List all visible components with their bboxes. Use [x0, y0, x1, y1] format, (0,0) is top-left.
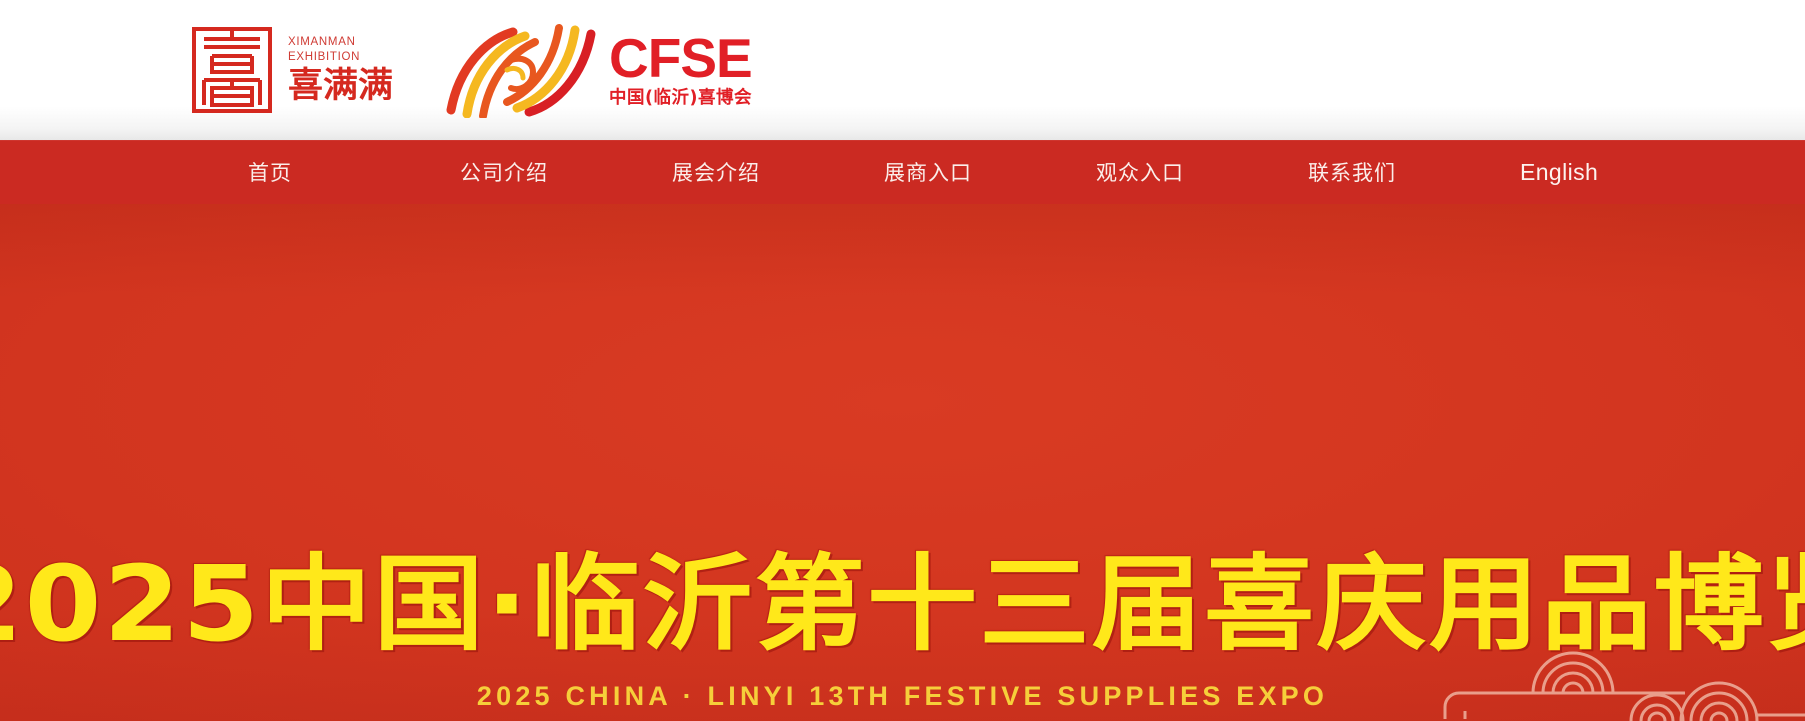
banner-title-english: 2025 CHINA · LINYI 13TH FESTIVE SUPPLIES…	[0, 681, 1805, 712]
hero-banner: 2025中国·临沂第十三届喜庆用品博览会 2025 CHINA · LINYI …	[0, 204, 1805, 721]
cfse-ribbon-icon	[441, 22, 601, 118]
nav-item-visitor-entry[interactable]: 观众入口	[1096, 157, 1308, 187]
xi-seal-icon	[190, 25, 274, 115]
cfse-logo[interactable]: CFSE 中国(临沂)喜博会	[441, 22, 752, 118]
logo-row: XIMANMAN EXHIBITION 喜满满	[190, 14, 752, 126]
ximanman-wordmark: XIMANMAN EXHIBITION 喜满满	[288, 36, 393, 104]
banner-title-chinese: 2025中国·临沂第十三届喜庆用品博览会	[0, 552, 1805, 656]
site-header: XIMANMAN EXHIBITION 喜满满	[0, 0, 1805, 140]
page-root: XIMANMAN EXHIBITION 喜满满	[0, 0, 1805, 721]
nav-item-exhibitor-entry[interactable]: 展商入口	[884, 157, 1096, 187]
cfse-acronym: CFSE	[609, 33, 752, 85]
nav-items-container: 首页 公司介绍 展会介绍 展商入口 观众入口 联系我们 English	[248, 140, 1732, 204]
nav-item-expo-intro[interactable]: 展会介绍	[672, 157, 884, 187]
ximanman-logo[interactable]: XIMANMAN EXHIBITION 喜满满	[190, 25, 393, 115]
cfse-chinese: 中国(临沂)喜博会	[609, 90, 752, 108]
nav-item-home[interactable]: 首页	[248, 157, 460, 187]
main-navigation: 首页 公司介绍 展会介绍 展商入口 观众入口 联系我们 English	[0, 140, 1805, 204]
ximanman-latin-line1: XIMANMAN	[288, 36, 393, 49]
nav-item-company-intro[interactable]: 公司介绍	[460, 157, 672, 187]
nav-item-english[interactable]: English	[1520, 159, 1732, 186]
nav-item-contact-us[interactable]: 联系我们	[1308, 157, 1520, 187]
cfse-wordmark: CFSE 中国(临沂)喜博会	[609, 33, 752, 107]
ximanman-latin-line2: EXHIBITION	[288, 51, 393, 64]
ximanman-chinese: 喜满满	[288, 69, 393, 104]
